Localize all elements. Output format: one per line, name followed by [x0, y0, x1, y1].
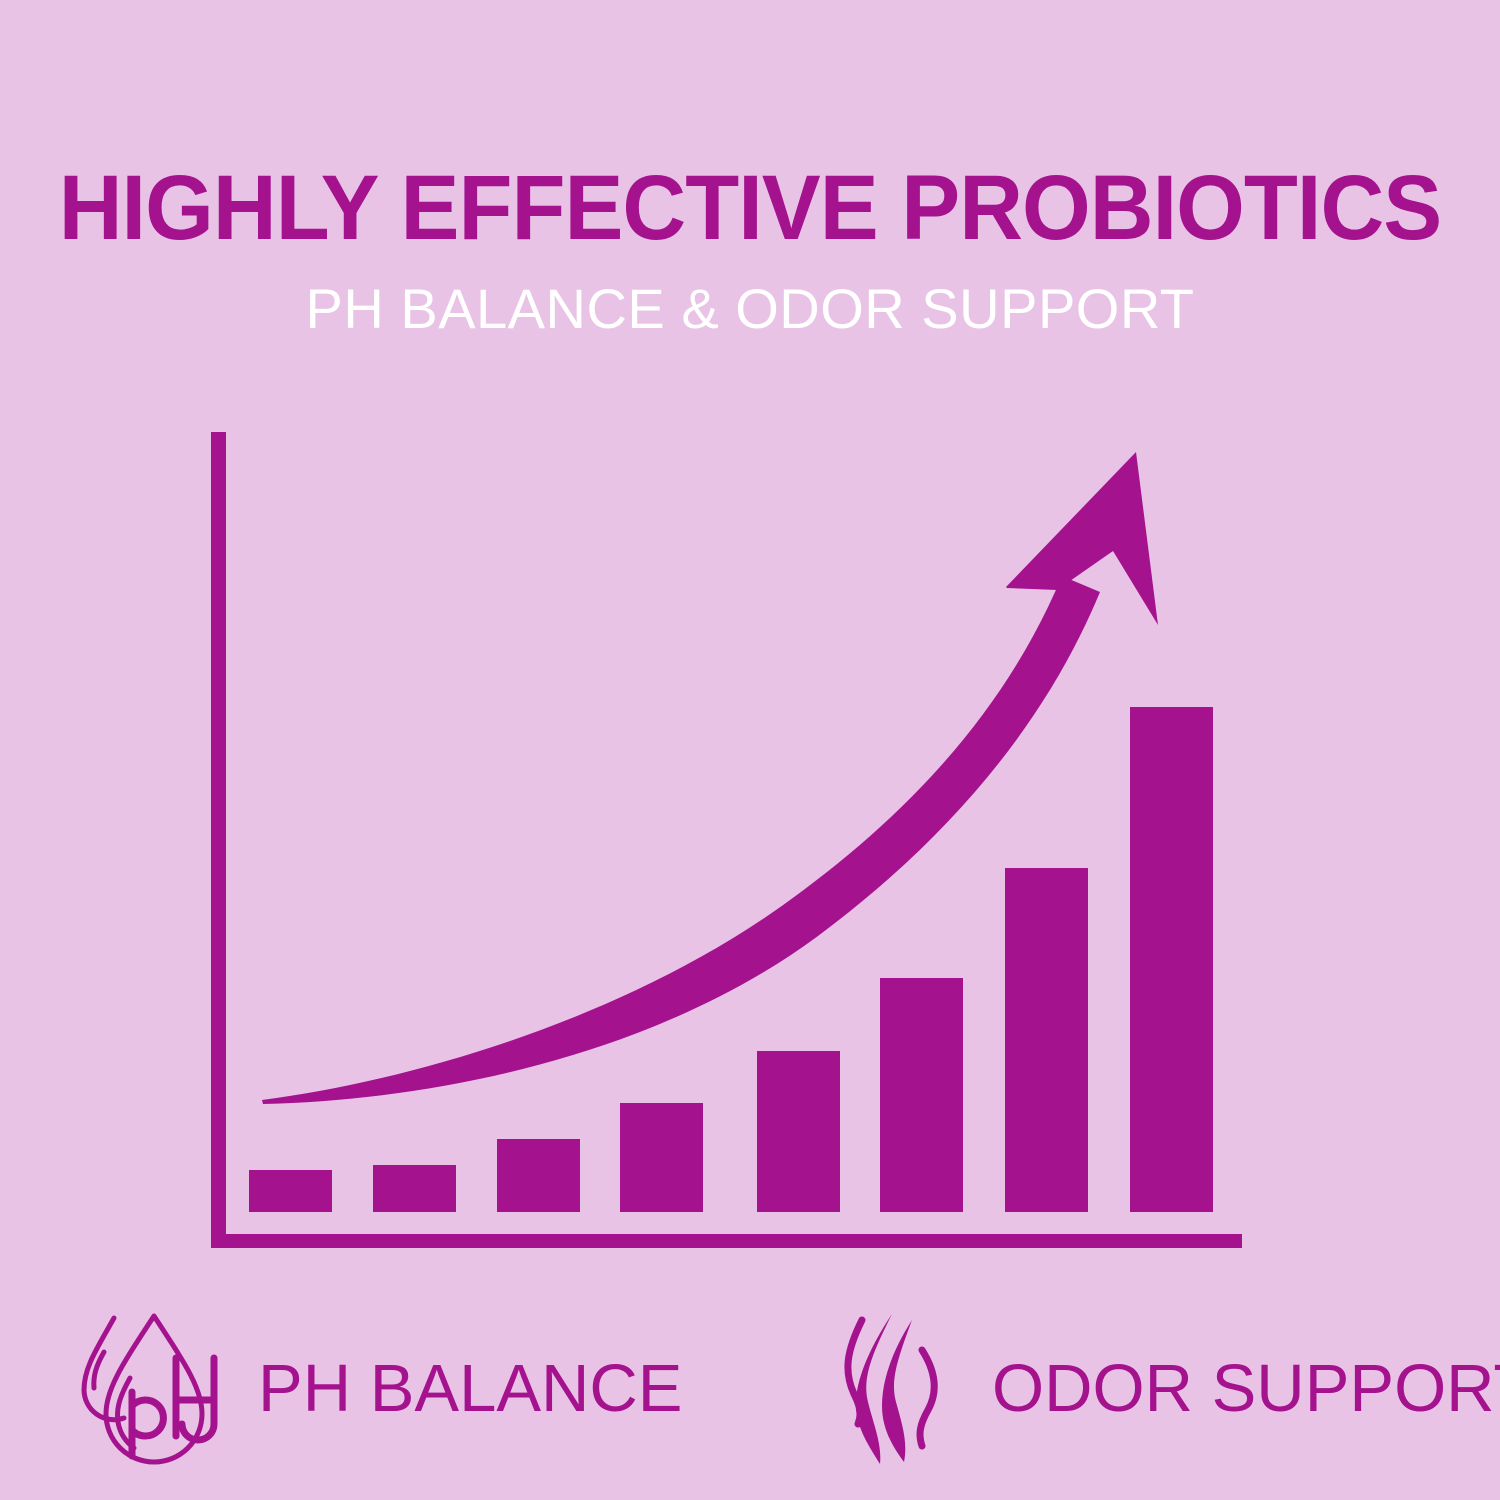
bar-5	[757, 1051, 840, 1212]
bar-1	[249, 1170, 332, 1212]
odor-waves-icon	[836, 1306, 966, 1476]
poster-canvas: HIGHLY EFFECTIVE PROBIOTICS PH BALANCE &…	[0, 0, 1500, 1500]
feature-odor-support-label: ODOR SUPPORT	[992, 1353, 1500, 1429]
growth-bar-chart	[0, 0, 1500, 1300]
feature-ph-balance[interactable]: PH BALANCE	[72, 1296, 682, 1486]
bar-3	[497, 1139, 580, 1212]
bar-7	[1005, 868, 1088, 1212]
bar-4	[620, 1103, 703, 1212]
ph-droplet-icon	[72, 1306, 232, 1476]
chart-svg	[0, 0, 1500, 1300]
feature-list: PH BALANCE ODOR SUPPORT	[0, 1296, 1500, 1486]
arrow-shaft	[262, 576, 1100, 1104]
feature-ph-balance-label: PH BALANCE	[258, 1353, 682, 1429]
bar-2	[373, 1165, 456, 1212]
x-axis-line	[211, 1234, 1242, 1248]
bar-6	[880, 978, 963, 1212]
feature-odor-support[interactable]: ODOR SUPPORT	[836, 1296, 1500, 1486]
bar-8	[1130, 707, 1213, 1212]
y-axis-line	[211, 432, 226, 1248]
